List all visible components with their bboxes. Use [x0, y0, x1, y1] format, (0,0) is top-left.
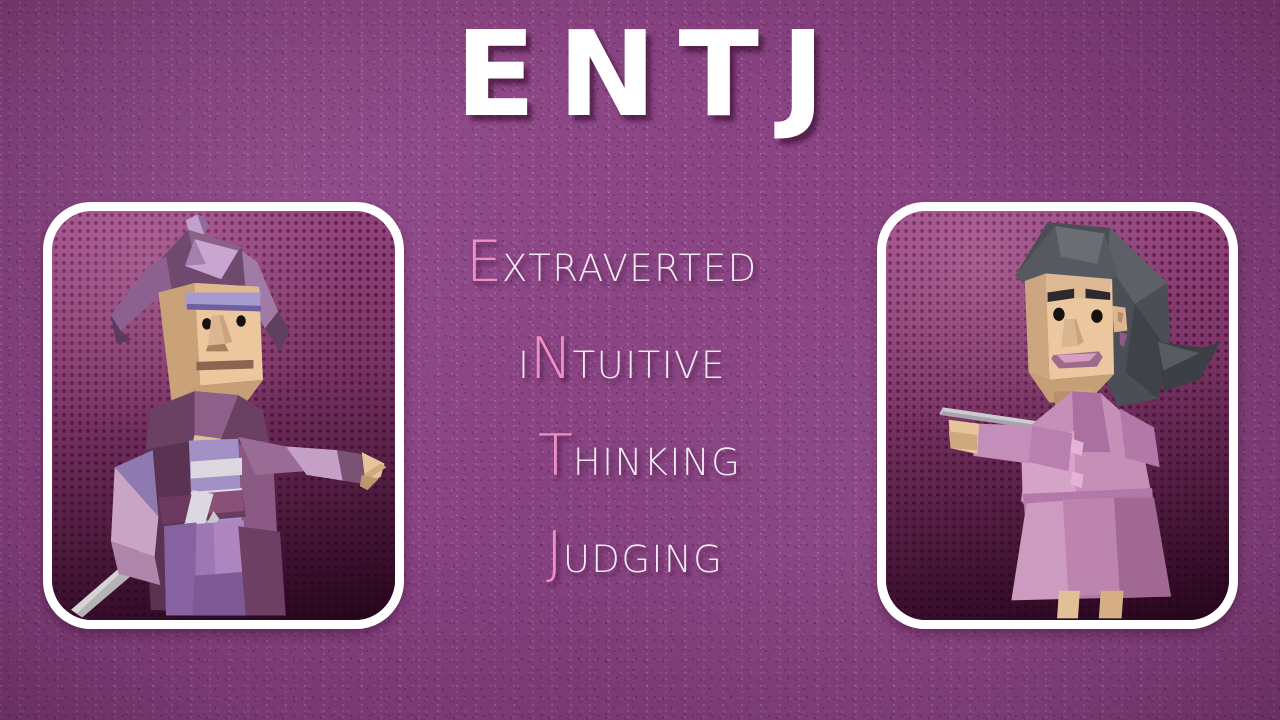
- trait-body-extraverted: XTRAVERTED: [502, 247, 758, 290]
- entj-infographic-canvas: ENTJ: [0, 0, 1280, 720]
- portrait-panel-left[interactable]: [43, 202, 404, 629]
- trait-initial-judging: J: [546, 525, 563, 582]
- trait-prefix-intuitive: I: [518, 344, 530, 387]
- trait-body-intuitive: TUITIVE: [573, 344, 726, 387]
- trait-row-judging: J UDGING: [462, 525, 862, 622]
- trait-body-judging: UDGING: [563, 538, 724, 581]
- portrait-panel-right[interactable]: [877, 202, 1238, 629]
- male-commander-figure: [52, 211, 395, 620]
- trait-row-intuitive: I N TUITIVE: [462, 331, 862, 428]
- portrait-panel-right-inner: [886, 211, 1229, 620]
- trait-initial-thinking: T: [538, 428, 573, 485]
- trait-body-thinking: HINKING: [573, 441, 741, 484]
- portrait-panel-left-inner: [52, 211, 395, 620]
- female-commander-figure: [886, 211, 1229, 620]
- trait-initial-extraverted: E: [466, 234, 502, 291]
- trait-list: E XTRAVERTED I N TUITIVE T HINKING J UDG…: [462, 234, 862, 622]
- trait-initial-intuitive: N: [530, 331, 573, 388]
- trait-row-thinking: T HINKING: [462, 428, 862, 525]
- page-title: ENTJ: [0, 14, 1280, 134]
- trait-row-extraverted: E XTRAVERTED: [462, 234, 862, 331]
